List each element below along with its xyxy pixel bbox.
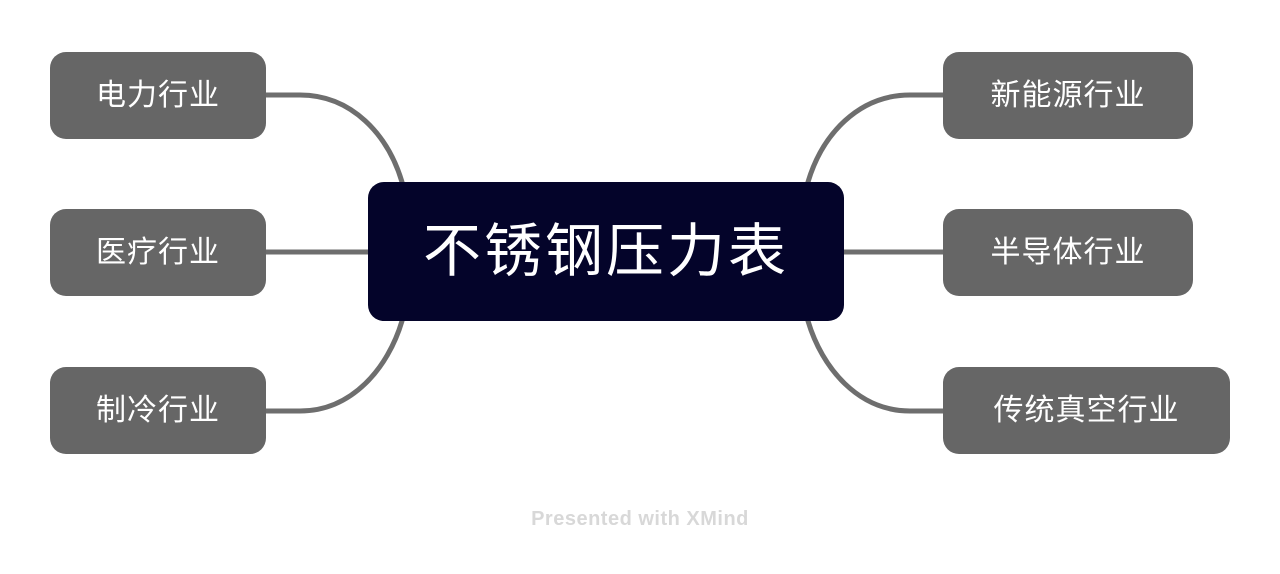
connector-right-2 — [808, 321, 943, 411]
mindmap-canvas: 电力行业 医疗行业 制冷行业 不锈钢压力表 新能源行业 半导体行业 传统真空行业… — [0, 0, 1280, 574]
connector-left-2 — [266, 321, 402, 411]
connector-right-0 — [808, 95, 943, 182]
branch-node-medical-industry[interactable]: 医疗行业 — [50, 209, 266, 296]
connector-left-0 — [266, 95, 402, 182]
branch-node-semiconductor-industry[interactable]: 半导体行业 — [943, 209, 1193, 296]
branch-node-label: 医疗行业 — [96, 238, 220, 268]
branch-node-new-energy-industry[interactable]: 新能源行业 — [943, 52, 1193, 139]
central-topic-label: 不锈钢压力表 — [423, 223, 789, 281]
branch-node-power-industry[interactable]: 电力行业 — [50, 52, 266, 139]
branch-node-label: 传统真空行业 — [994, 396, 1180, 426]
branch-node-label: 新能源行业 — [991, 81, 1146, 111]
branch-node-refrigeration-industry[interactable]: 制冷行业 — [50, 367, 266, 454]
branch-node-label: 制冷行业 — [96, 396, 220, 426]
branch-node-label: 电力行业 — [96, 81, 220, 111]
branch-node-label: 半导体行业 — [991, 238, 1146, 268]
branch-node-traditional-vacuum-industry[interactable]: 传统真空行业 — [943, 367, 1230, 454]
central-topic-node[interactable]: 不锈钢压力表 — [368, 182, 844, 321]
xmind-watermark: Presented with XMind — [0, 508, 1280, 531]
